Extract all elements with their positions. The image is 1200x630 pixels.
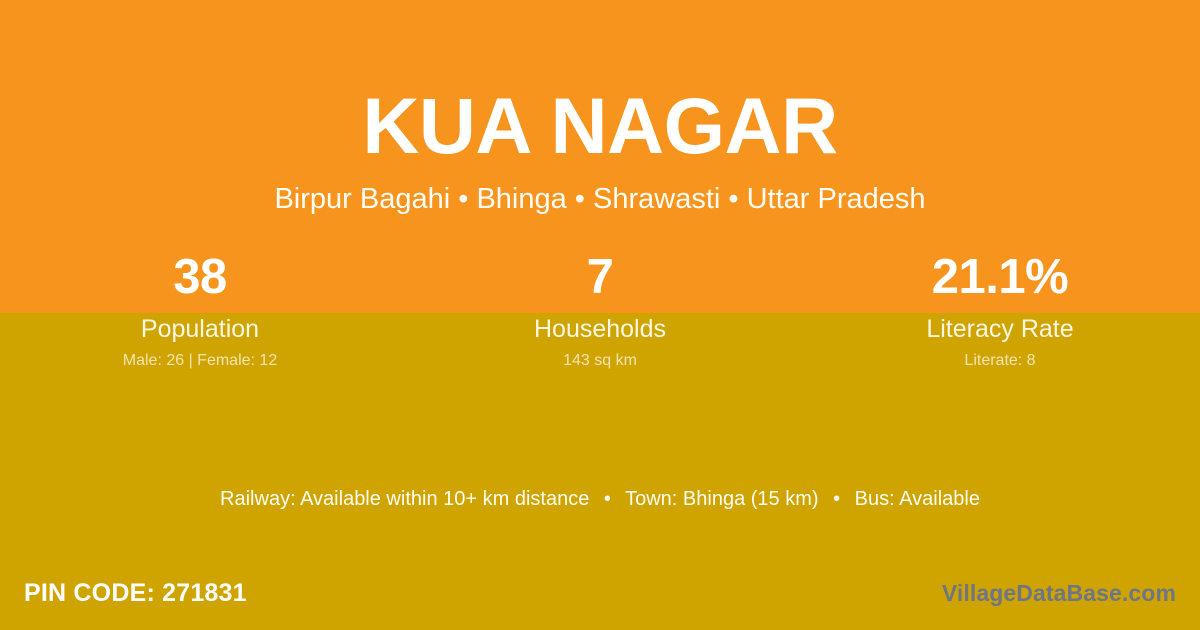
card-footer: PIN CODE: 271831 VillageDataBase.com bbox=[0, 572, 1200, 630]
stat-literacy-rate: 21.1% Literacy Rate Literate: 8 bbox=[800, 244, 1200, 372]
stat-population-value: 38 bbox=[0, 244, 400, 310]
amenity-town: Town: Bhinga (15 km) bbox=[625, 488, 818, 510]
stat-households-value: 7 bbox=[400, 244, 800, 310]
stat-households: 7 Households 143 sq km bbox=[400, 244, 800, 372]
amenity-bus: Bus: Available bbox=[855, 488, 980, 510]
stat-population-detail: Male: 26 | Female: 12 bbox=[0, 350, 400, 372]
amenity-separator-icon: • bbox=[824, 485, 849, 514]
page-title: KUA NAGAR bbox=[0, 82, 1200, 170]
amenities-row: Railway: Available within 10+ km distanc… bbox=[0, 485, 1200, 514]
statistics-row: 38 Population Male: 26 | Female: 12 7 Ho… bbox=[0, 244, 1200, 372]
stat-population: 38 Population Male: 26 | Female: 12 bbox=[0, 244, 400, 372]
breadcrumb: Birpur Bagahi • Bhinga • Shrawasti • Utt… bbox=[0, 181, 1200, 217]
amenity-railway: Railway: Available within 10+ km distanc… bbox=[220, 488, 589, 510]
stat-households-detail: 143 sq km bbox=[400, 350, 800, 372]
stat-literacy-rate-value: 21.1% bbox=[800, 244, 1200, 310]
pin-code: PIN CODE: 271831 bbox=[24, 576, 247, 610]
stat-literacy-rate-label: Literacy Rate bbox=[800, 313, 1200, 346]
site-branding: VillageDataBase.com bbox=[942, 578, 1176, 609]
stat-literacy-rate-detail: Literate: 8 bbox=[800, 350, 1200, 372]
stat-population-label: Population bbox=[0, 313, 400, 346]
amenity-separator-icon: • bbox=[595, 485, 620, 514]
stat-households-label: Households bbox=[400, 313, 800, 346]
village-info-card: KUA NAGAR Birpur Bagahi • Bhinga • Shraw… bbox=[0, 0, 1200, 630]
